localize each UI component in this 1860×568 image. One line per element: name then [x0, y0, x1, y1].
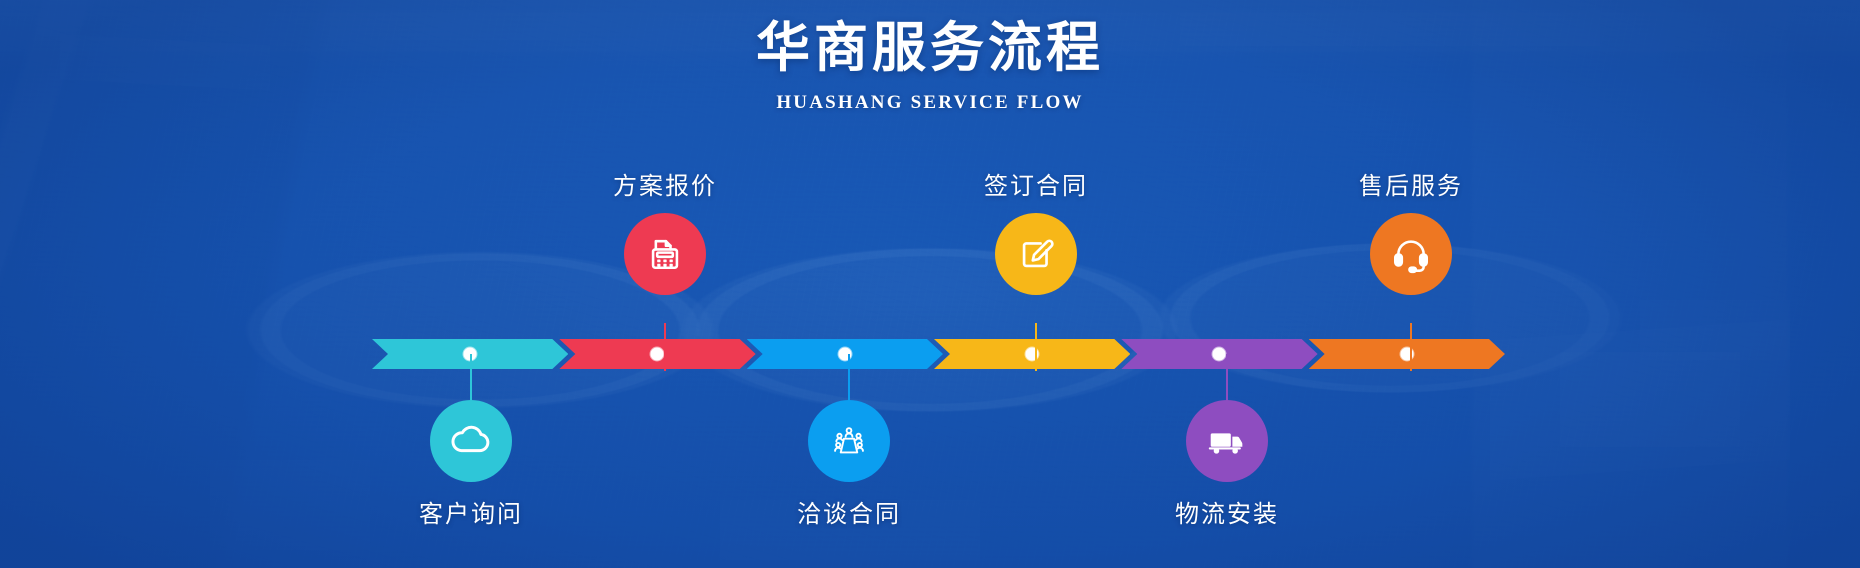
meeting-table-icon — [827, 419, 871, 463]
flow-step-label-2: 方案报价 — [565, 166, 765, 201]
flow-arrow-dot-5 — [1213, 348, 1226, 361]
flow-icon-circle-6[interactable] — [1370, 213, 1452, 295]
flow-icon-circle-2[interactable] — [624, 213, 706, 295]
banner-header: 华商服务流程 HUASHANG SERVICE FLOW — [0, 14, 1860, 114]
flow-step-1[interactable]: 客户询问 — [371, 400, 571, 529]
flow-step-5[interactable]: 物流安装 — [1127, 400, 1327, 529]
flow-step-label-3: 洽谈合同 — [749, 494, 949, 529]
delivery-truck-icon — [1204, 418, 1250, 464]
flow-arrow-3[interactable] — [747, 339, 943, 369]
service-flow-banner: 华商服务流程 HUASHANG SERVICE FLOW — [0, 0, 1860, 568]
flow-stem-2 — [664, 323, 666, 371]
headset-support-icon — [1388, 231, 1434, 277]
pen-sign-icon — [1014, 232, 1058, 276]
flow-icon-circle-3[interactable] — [808, 400, 890, 482]
calculator-receipt-icon — [643, 232, 687, 276]
flow-step-label-5: 物流安装 — [1127, 494, 1327, 529]
cloud-chat-icon — [448, 418, 494, 464]
flow-arrow-4[interactable] — [934, 339, 1130, 369]
flow-arrow-dot-2 — [651, 348, 664, 361]
flow-icon-circle-5[interactable] — [1186, 400, 1268, 482]
flow-icon-circle-4[interactable] — [995, 213, 1077, 295]
flow-arrow-5[interactable] — [1121, 339, 1317, 369]
flow-step-4[interactable]: 签订合同 — [936, 166, 1136, 295]
flow-stem-1 — [470, 354, 472, 400]
flow-stem-5 — [1226, 354, 1228, 400]
flow-step-3[interactable]: 洽谈合同 — [749, 400, 949, 529]
flow-stem-4 — [1035, 323, 1037, 371]
flow-arrow-strip — [372, 339, 1505, 369]
flow-step-6[interactable]: 售后服务 — [1311, 166, 1511, 295]
flow-arrow-6[interactable] — [1309, 339, 1505, 369]
flow-step-label-4: 签订合同 — [936, 166, 1136, 201]
flow-step-label-6: 售后服务 — [1311, 166, 1511, 201]
flow-stem-3 — [848, 354, 850, 400]
flow-stem-6 — [1410, 323, 1412, 371]
flow-arrow-2[interactable] — [559, 339, 755, 369]
page-title: 华商服务流程 — [0, 14, 1860, 82]
page-subtitle: HUASHANG SERVICE FLOW — [0, 92, 1860, 114]
flow-icon-circle-1[interactable] — [430, 400, 512, 482]
flow-step-2[interactable]: 方案报价 — [565, 166, 765, 295]
flow-step-label-1: 客户询问 — [371, 494, 571, 529]
